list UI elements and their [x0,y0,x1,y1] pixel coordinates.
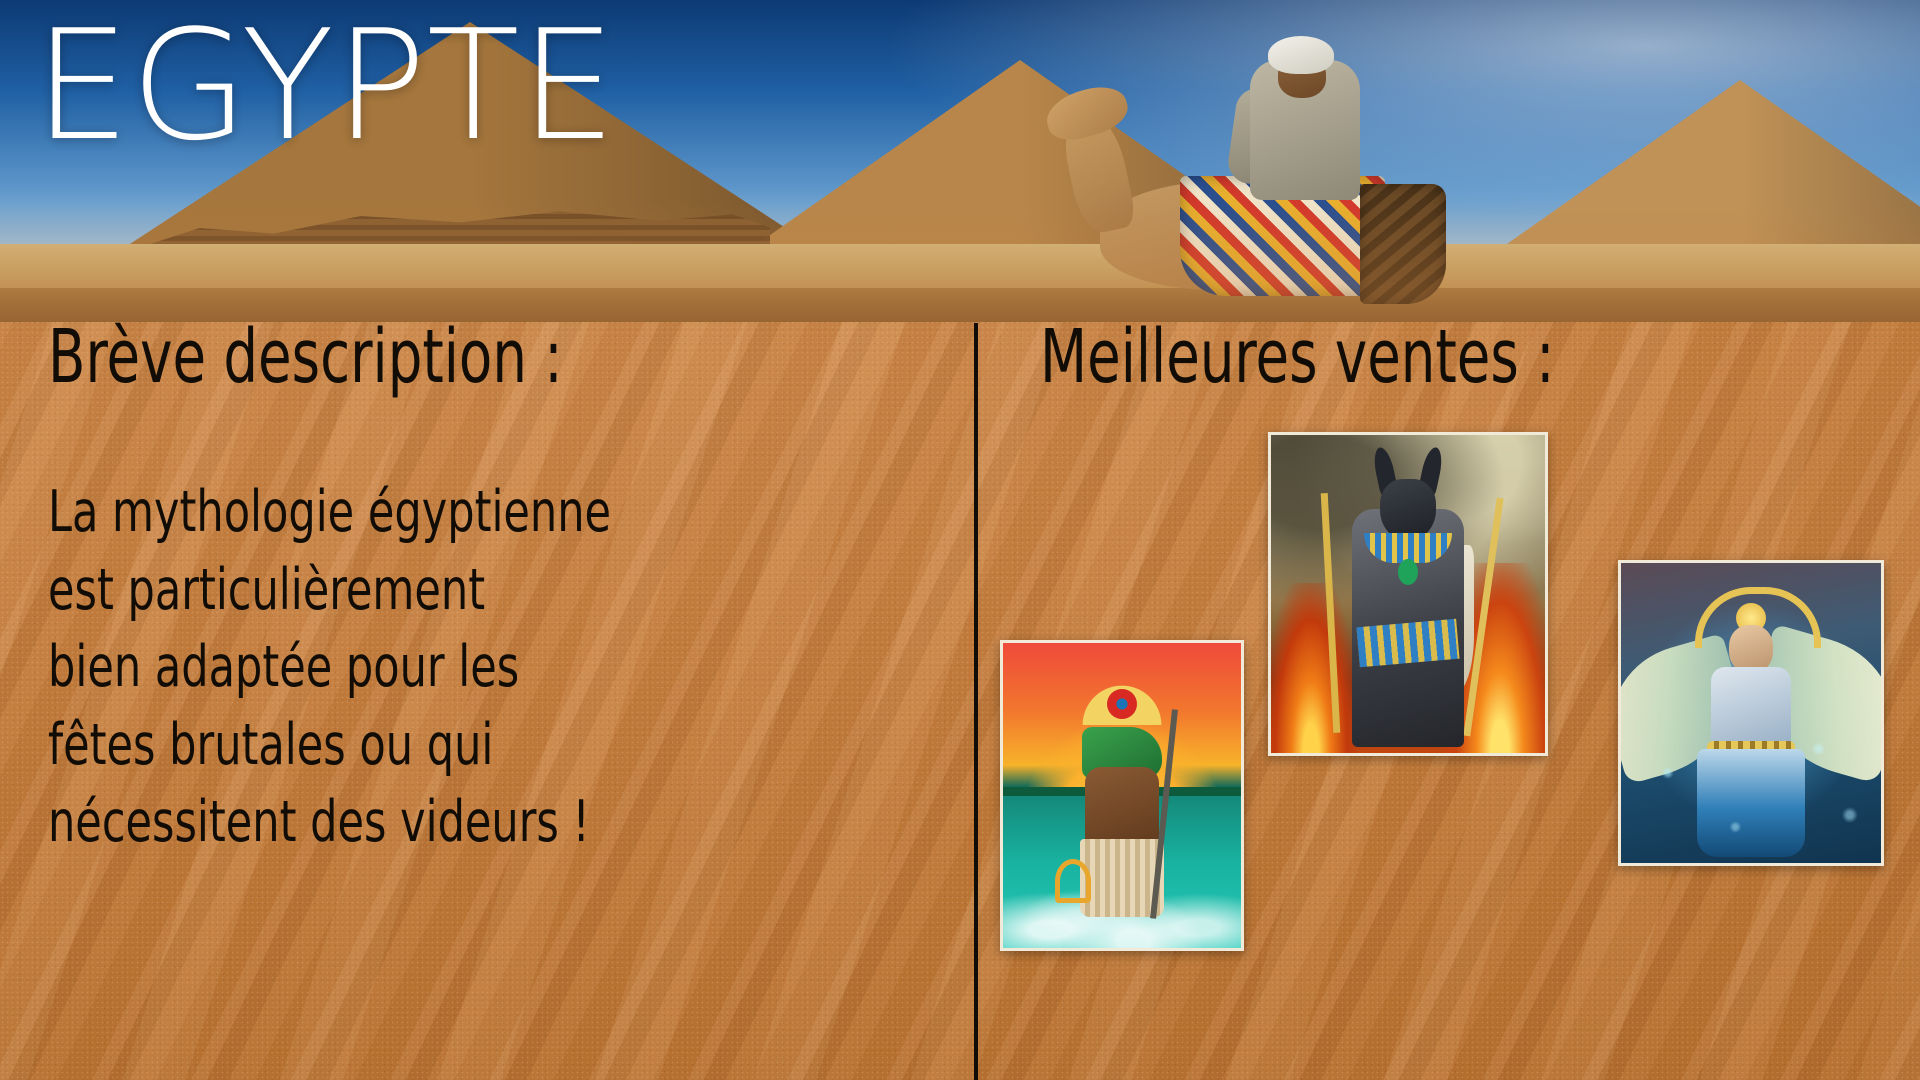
body-line: bien adaptée pour les [48,629,804,707]
ankh-icon [1055,859,1091,903]
anubis-jackal-head [1380,479,1436,541]
isis-sparkles [1621,563,1881,863]
left-column-body: La mythologie égyptienne est particulièr… [48,474,804,862]
anubis-artwork[interactable] [1268,432,1548,756]
anubis-gem [1398,559,1418,585]
body-line: nécessitent des videurs ! [48,784,804,862]
body-line: fêtes brutales ou qui [48,707,804,785]
column-divider [974,323,978,1080]
isis-artwork[interactable] [1618,560,1884,866]
left-column-heading: Brève description : [48,320,563,394]
right-column-heading: Meilleures ventes : [1040,320,1555,394]
page-title: EGYPTE [34,10,617,162]
sobek-sun-disc [1107,689,1137,719]
slide-root: EGYPTE Brève description : La mythologie… [0,0,1920,1080]
body-line: est particulièrement [48,552,804,630]
photo-bottom-haze [0,202,1920,322]
body-line: La mythologie égyptienne [48,474,804,552]
sobek-artwork[interactable] [1000,640,1244,951]
rider-headwrap [1268,36,1334,74]
anubis-fire-left [1268,583,1357,753]
